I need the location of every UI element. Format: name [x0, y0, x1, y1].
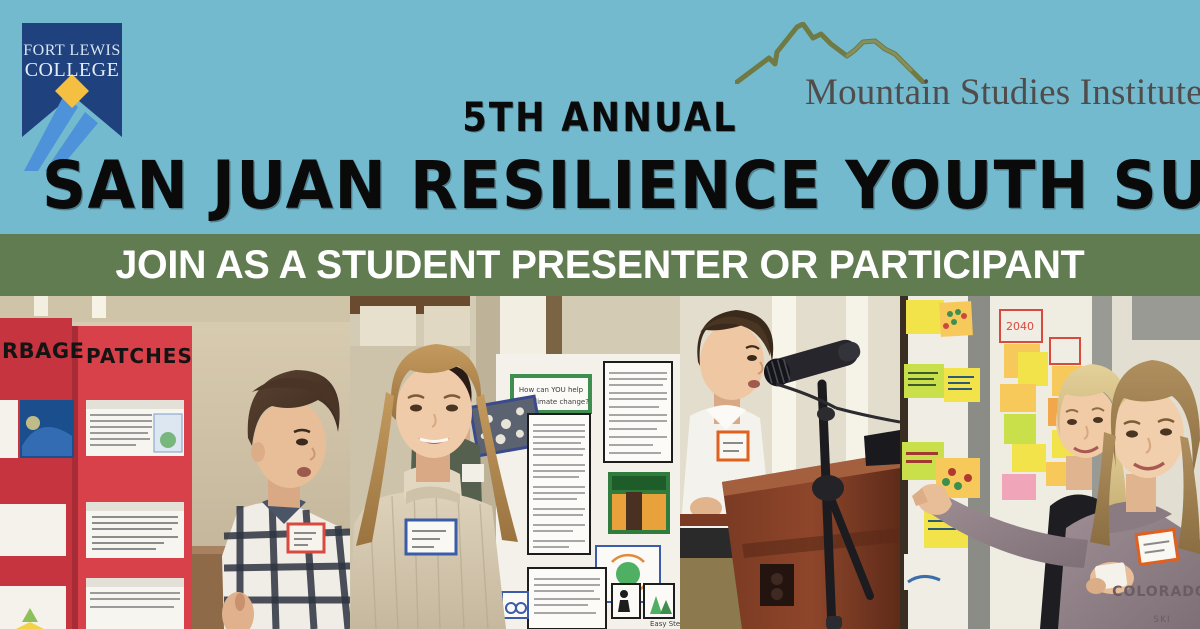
svg-text:FORT LEWIS: FORT LEWIS — [23, 42, 121, 59]
title-block: 5TH ANNUAL SAN JUAN RESILIENCE YOUTH SUM… — [0, 96, 1200, 222]
photo-poster-presentation-garbage-patches: RBAGE PATCHES — [0, 296, 350, 629]
eyebrow-text: 5TH ANNUAL — [72, 96, 1128, 140]
svg-text:SKI: SKI — [1153, 615, 1170, 625]
svg-text:How can YOU help: How can YOU help — [519, 386, 584, 394]
flyer-root: FORT LEWIS COLLEGE Mountain Studies Inst… — [0, 0, 1200, 629]
svg-text:Easy Steps: Easy Steps — [650, 620, 680, 628]
photo-strip: RBAGE PATCHES — [0, 296, 1200, 629]
photo-students-at-sticky-note-wall: 2040 — [900, 296, 1200, 629]
svg-text:2040: 2040 — [1006, 320, 1034, 333]
call-to-action-text: JOIN AS A STUDENT PRESENTER OR PARTICIPA… — [115, 243, 1084, 287]
svg-text:COLORADO: COLORADO — [1112, 584, 1200, 600]
page-title: SAN JUAN RESILIENCE YOUTH SUMMIT — [42, 150, 1158, 222]
svg-text:COLLEGE: COLLEGE — [25, 59, 120, 81]
svg-text:RBAGE: RBAGE — [2, 339, 85, 363]
svg-text:PATCHES: PATCHES — [86, 344, 193, 368]
photo-student-presenter-climate-poster: How can YOU help fight climate change? — [350, 296, 680, 629]
call-to-action-banner: JOIN AS A STUDENT PRESENTER OR PARTICIPA… — [0, 234, 1200, 296]
photo-student-speaking-at-podium — [680, 296, 900, 629]
